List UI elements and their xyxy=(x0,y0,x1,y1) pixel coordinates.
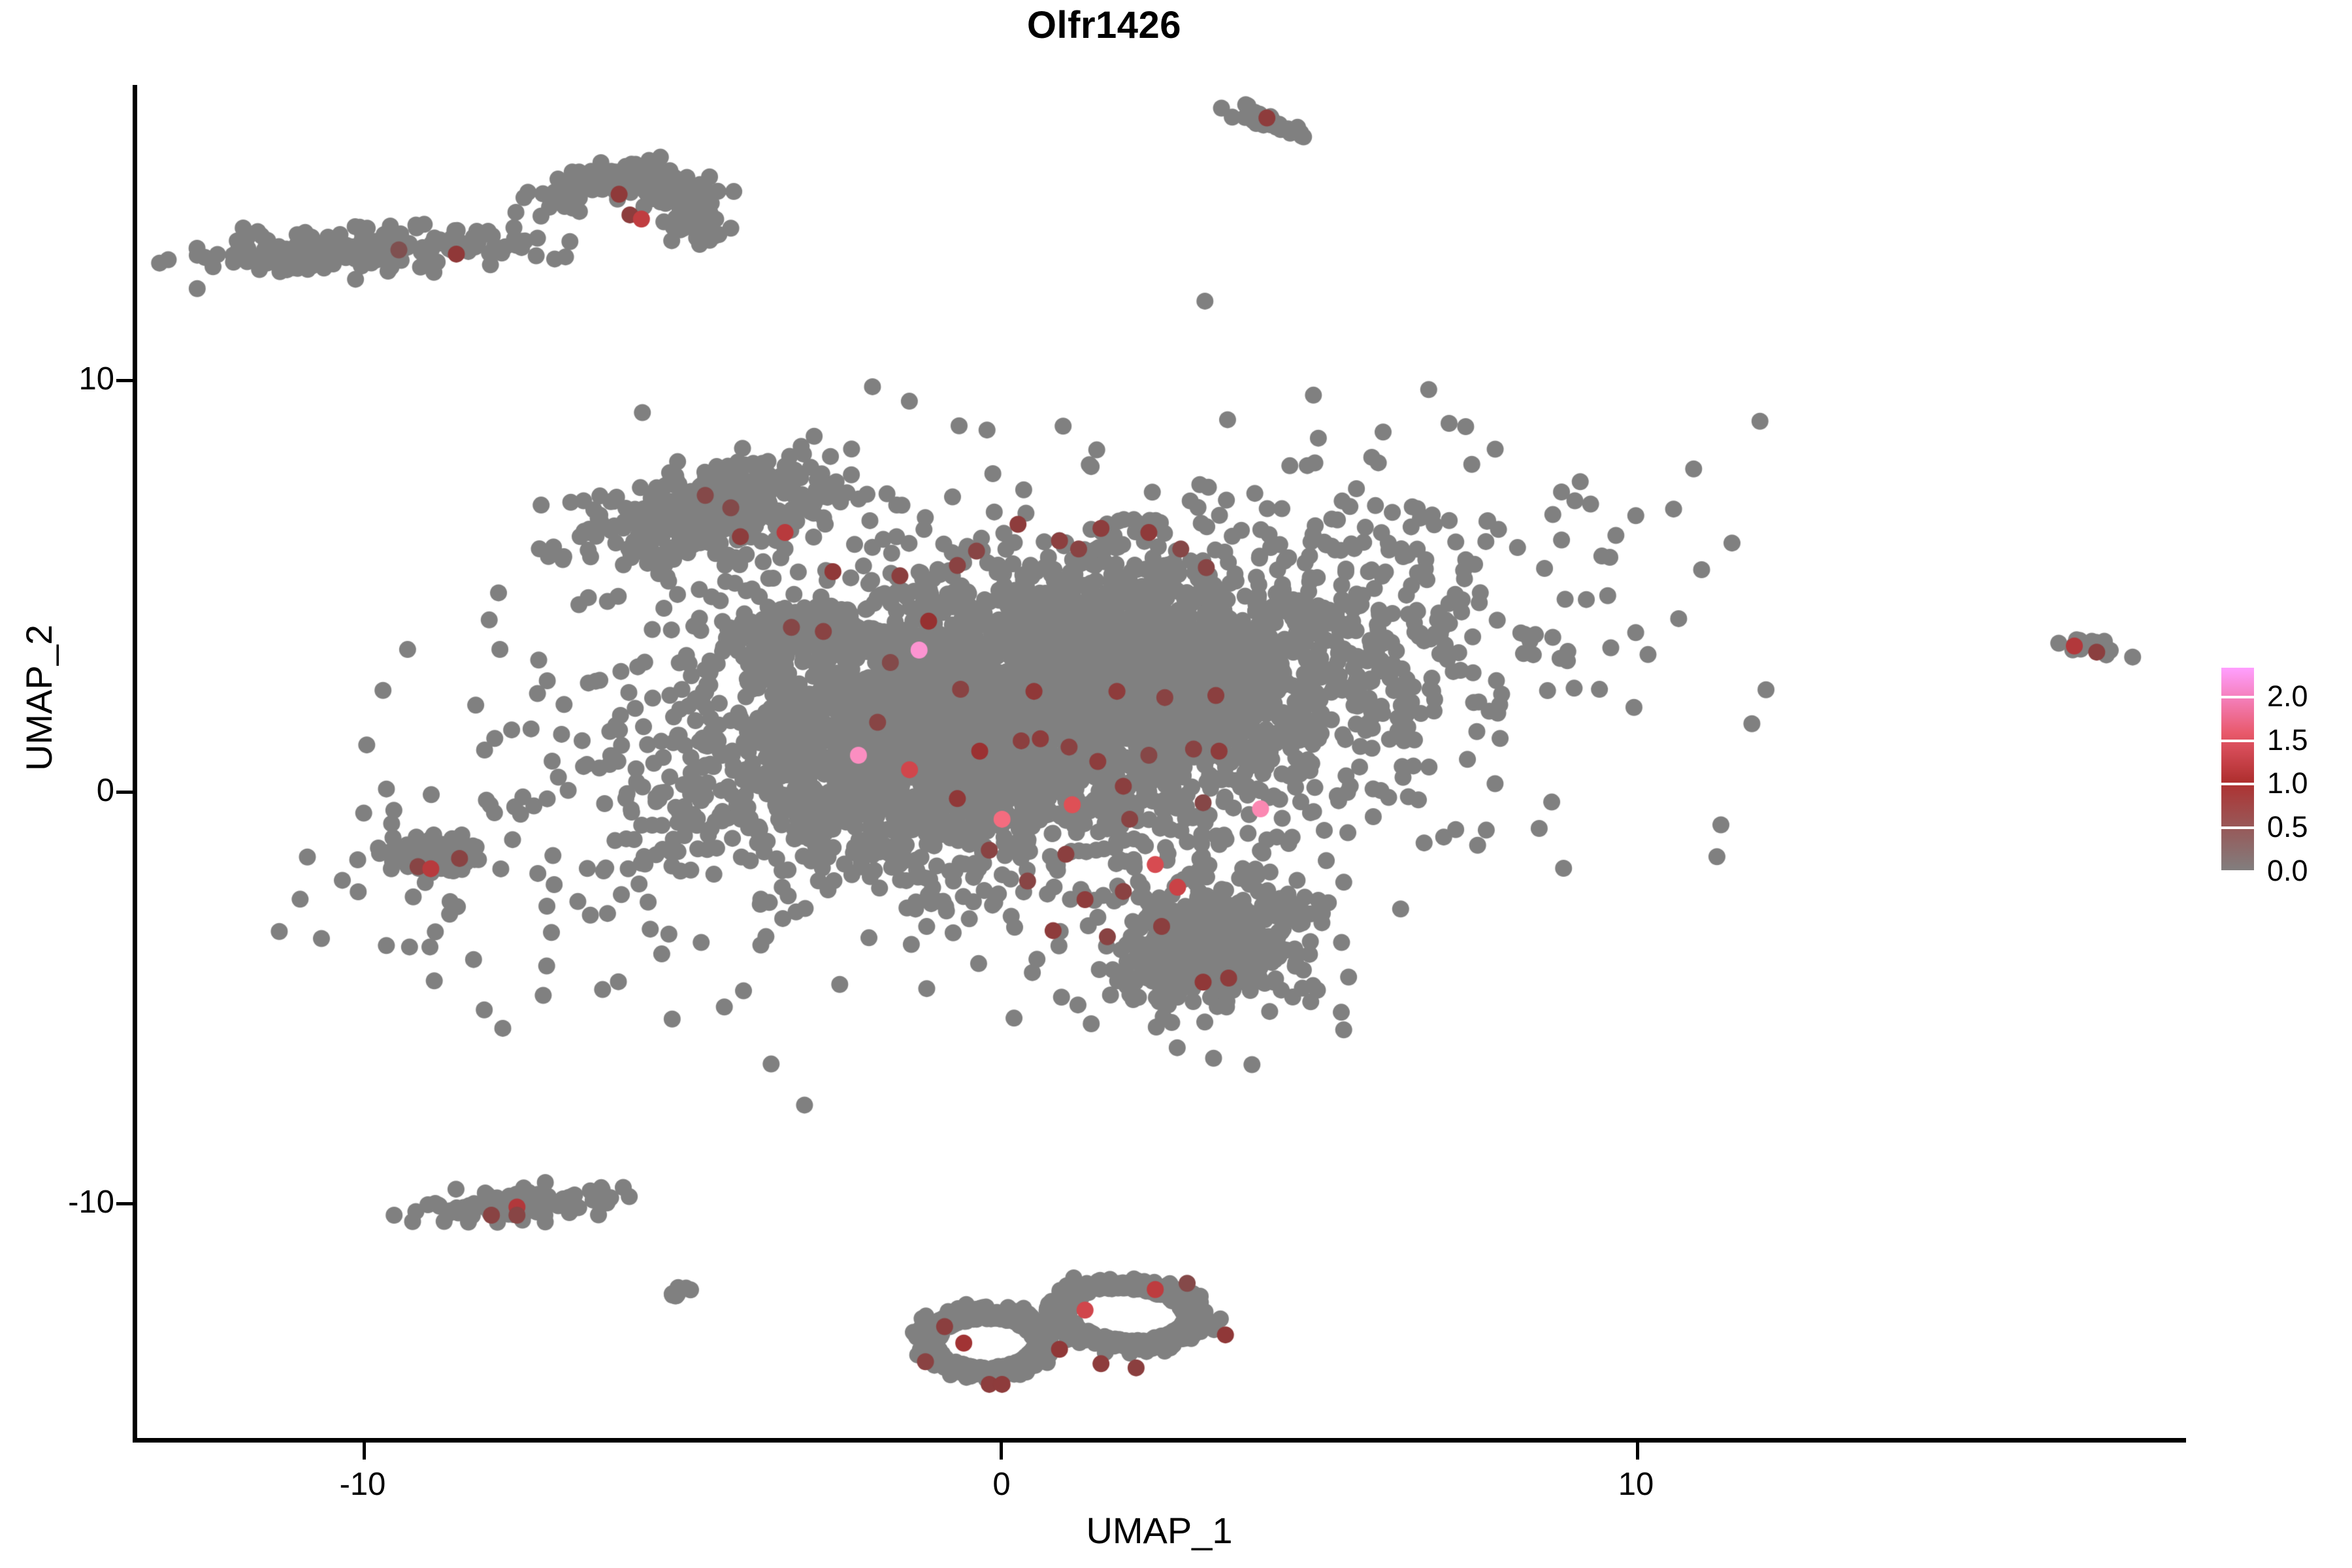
colorbar-tick-1 xyxy=(2221,826,2254,829)
x-axis-tick-10 xyxy=(1636,1443,1639,1460)
x-axis-line xyxy=(133,1438,2186,1443)
colorbar-label-1: 0.5 xyxy=(2267,812,2308,841)
y-axis-ticklabel-0: 0 xyxy=(97,775,114,807)
colorbar-tick-0 xyxy=(2221,870,2254,873)
x-axis-ticklabel-minus10: -10 xyxy=(297,1469,428,1501)
colorbar-label-4: 2.0 xyxy=(2267,681,2308,711)
colorbar-gradient xyxy=(2221,668,2254,873)
y-axis-ticklabel-10: 10 xyxy=(78,363,114,395)
y-axis-tick-10 xyxy=(116,379,133,382)
feature-plot-figure: Olfr1426 10 0 -10 UMAP_2 -10 0 10 UMAP_1… xyxy=(0,0,2352,1568)
x-axis-tick-0 xyxy=(1000,1443,1003,1460)
colorbar-label-0: 0.0 xyxy=(2267,856,2308,885)
colorbar-tick-2 xyxy=(2221,783,2254,785)
y-axis-line xyxy=(133,85,137,1443)
y-axis-ticklabel-minus10: -10 xyxy=(68,1186,114,1218)
x-axis-ticklabel-10: 10 xyxy=(1571,1469,1701,1501)
x-axis-ticklabel-0: 0 xyxy=(936,1469,1067,1501)
colorbar-tick-4 xyxy=(2221,696,2254,698)
colorbar-label-2: 1.0 xyxy=(2267,768,2308,798)
umap-scatter-canvas xyxy=(137,85,2186,1438)
colorbar-label-3: 1.5 xyxy=(2267,725,2308,755)
expression-colorbar-legend: 0.0 0.5 1.0 1.5 2.0 xyxy=(2221,668,2339,890)
y-axis-title: UMAP_2 xyxy=(21,567,57,828)
scatter-plot-panel xyxy=(137,85,2186,1438)
page-title: Olfr1426 xyxy=(0,7,2208,44)
y-axis-tick-minus10 xyxy=(116,1202,133,1205)
x-axis-title: UMAP_1 xyxy=(133,1512,2186,1549)
x-axis-tick-minus10 xyxy=(363,1443,366,1460)
colorbar-tick-3 xyxy=(2221,740,2254,742)
y-axis-tick-0 xyxy=(116,791,133,794)
